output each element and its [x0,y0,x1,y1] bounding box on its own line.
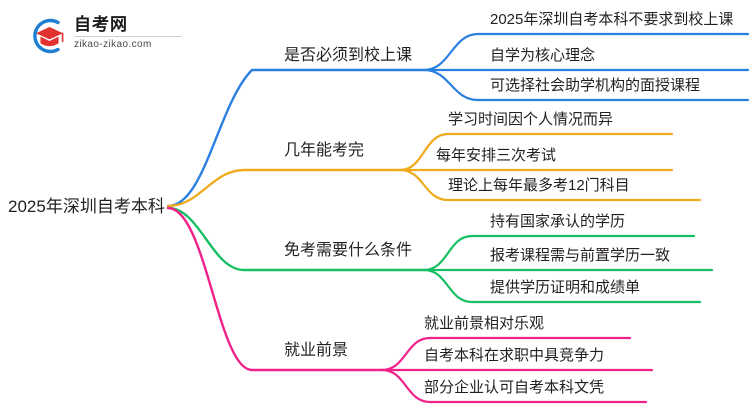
leaf-label-2-2[interactable]: 每年安排三次考试 [436,148,556,163]
mindmap-page: 自考网 zikao-zikao.com [0,0,750,410]
leaf-label-3-3[interactable]: 提供学历证明和成绩单 [490,280,640,295]
branch-connector-2 [168,134,700,206]
branch-label-3[interactable]: 免考需要什么条件 [284,243,412,259]
root-node-label[interactable]: 2025年深圳自考本科 [8,198,165,215]
branch-label-1[interactable]: 是否必须到校上课 [284,48,412,64]
leaf-label-1-3[interactable]: 可选择社会助学机构的面授课程 [490,78,700,93]
leaf-label-4-2[interactable]: 自考本科在求职中具竞争力 [424,348,604,363]
leaf-label-2-1[interactable]: 学习时间因个人情况而异 [448,112,613,127]
leaf-label-3-1[interactable]: 持有国家承认的学历 [490,214,625,229]
branch-label-2[interactable]: 几年能考完 [284,143,364,159]
branch-label-4[interactable]: 就业前景 [284,343,348,359]
leaf-label-2-3[interactable]: 理论上每年最多考12门科目 [448,178,630,193]
leaf-label-1-1[interactable]: 2025年深圳自考本科不要求到校上课 [490,12,733,27]
leaf-label-4-1[interactable]: 就业前景相对乐观 [424,316,544,331]
leaf-label-4-3[interactable]: 部分企业认可自考本科文凭 [424,380,604,395]
leaf-label-3-2[interactable]: 报考课程需与前置学历一致 [490,248,670,263]
leaf-label-1-2[interactable]: 自学为核心理念 [490,48,595,63]
